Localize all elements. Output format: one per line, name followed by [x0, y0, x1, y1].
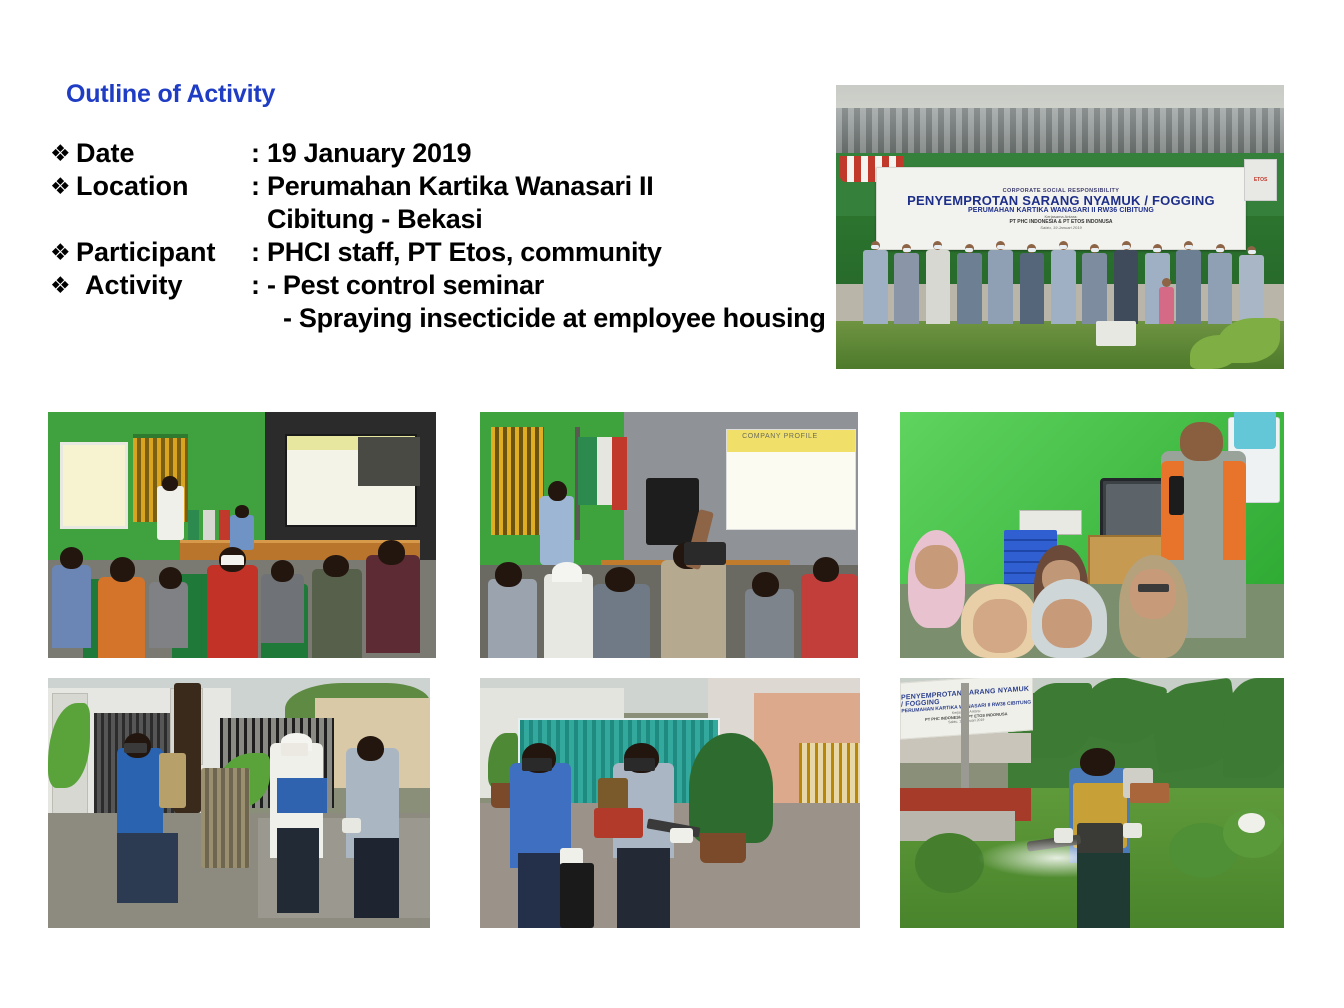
outline-indent-spacer: [50, 302, 283, 335]
outline-subrow-activity: - Spraying insecticide at employee housi…: [50, 302, 840, 335]
outline-value-participant: PHCI staff, PT Etos, community: [267, 236, 840, 269]
outline-list: ❖ Date : 19 January 2019 ❖ Location : Pe…: [50, 137, 840, 335]
outline-subrow-location: Cibitung - Bekasi: [50, 203, 840, 236]
etos-logo-icon: ETOS: [1244, 159, 1277, 201]
outline-value-location: Perumahan Kartika Wanasari II: [267, 170, 840, 203]
photo-group-banner: CORPORATE SOCIAL RESPONSIBILITY PENYEMPR…: [836, 85, 1284, 369]
outline-value-location-line2: Cibitung - Bekasi: [267, 203, 840, 236]
outline-label-location: Location: [76, 170, 251, 203]
outline-label-participant: Participant: [76, 236, 251, 269]
outline-label-date: Date: [76, 137, 251, 170]
banner-line-3: PERUMAHAN KARTIKA WANASARI II RW36 CIBIT…: [968, 207, 1154, 214]
photo-fogging-house-gate: [48, 678, 430, 928]
outline-colon-activity: :: [251, 269, 267, 302]
slide-root: Outline of Activity ❖ Date : 19 January …: [0, 0, 1344, 1008]
outline-value-date: 19 January 2019: [267, 137, 840, 170]
photo-seminar-audience: [48, 412, 436, 658]
outline-row-date: ❖ Date : 19 January 2019: [50, 137, 840, 170]
outline-indent-spacer: [50, 203, 267, 236]
banner-line-2: PENYEMPROTAN SARANG NYAMUK / FOGGING: [907, 194, 1215, 207]
diamond-bullet-icon: ❖: [50, 137, 76, 170]
outline-row-activity: ❖ Activity : - Pest control seminar: [50, 269, 840, 302]
diamond-bullet-icon: ❖: [50, 170, 76, 203]
photo-presenter-company-profile: COMPANY PROFILE: [480, 412, 858, 658]
outline-colon-date: :: [251, 137, 267, 170]
outline-row-location: ❖ Location : Perumahan Kartika Wanasari …: [50, 170, 840, 203]
outline-value-activity-line2: - Spraying insecticide at employee housi…: [283, 302, 840, 335]
outline-colon-participant: :: [251, 236, 267, 269]
outline-colon-location: :: [251, 170, 267, 203]
diamond-bullet-icon: ❖: [50, 236, 76, 269]
banner-csr: CORPORATE SOCIAL RESPONSIBILITY PENYEMPR…: [876, 167, 1245, 250]
outline-label-activity: Activity: [76, 269, 251, 302]
slide-title-company-profile: COMPANY PROFILE: [742, 433, 818, 440]
photo-community-speaker: [900, 412, 1284, 658]
banner-line-6: Sabtu, 19 Januari 2019: [1040, 225, 1081, 230]
photo-spraying-housing-path: RT05: [480, 678, 860, 928]
photo-fogging-field: PENYEMPROTAN SARANG NYAMUK / FOGGING PER…: [900, 678, 1284, 928]
outline-row-participant: ❖ Participant : PHCI staff, PT Etos, com…: [50, 236, 840, 269]
outline-value-activity: - Pest control seminar: [267, 269, 840, 302]
diamond-bullet-icon: ❖: [50, 269, 76, 302]
page-title: Outline of Activity: [66, 80, 275, 109]
